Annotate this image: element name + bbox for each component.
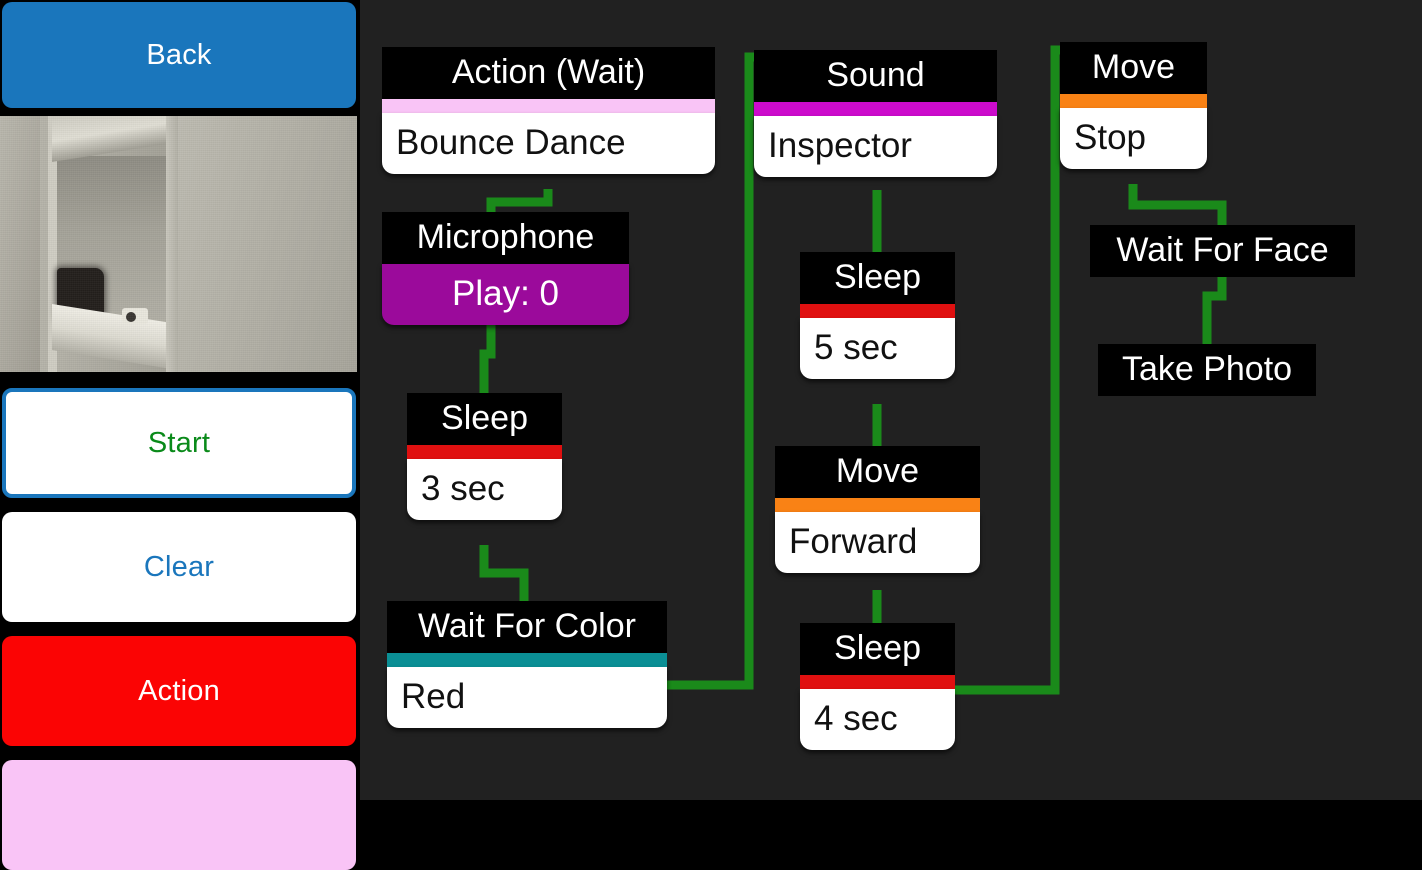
- block-microphone[interactable]: Microphone Play: 0: [382, 212, 629, 325]
- clear-button[interactable]: Clear: [2, 512, 356, 622]
- block-sleep-3-accent: [407, 445, 562, 459]
- wire-action-to-microphone: [491, 189, 548, 212]
- block-microphone-value[interactable]: Play: 0: [382, 264, 629, 325]
- block-sleep-4-accent: [800, 675, 955, 689]
- block-sleep-3-value[interactable]: 3 sec: [407, 459, 562, 520]
- block-sleep-5[interactable]: Sleep 5 sec: [800, 252, 955, 379]
- block-sleep-5-accent: [800, 304, 955, 318]
- back-button-label: Back: [146, 39, 211, 72]
- block-move-forward-value[interactable]: Forward: [775, 512, 980, 573]
- block-sound[interactable]: Sound Inspector: [754, 50, 997, 177]
- block-move-forward-title: Move: [775, 446, 980, 498]
- block-move-stop-value[interactable]: Stop: [1060, 108, 1207, 169]
- wire-sleep3-to-waitcolor: [484, 545, 524, 601]
- block-move-stop-accent: [1060, 94, 1207, 108]
- block-action-wait[interactable]: Action (Wait) Bounce Dance: [382, 47, 715, 174]
- block-move-forward-accent: [775, 498, 980, 512]
- wire-microphone-to-sleep3: [484, 318, 491, 393]
- block-move-stop[interactable]: Move Stop: [1060, 42, 1207, 169]
- clear-button-label: Clear: [144, 551, 214, 584]
- camera-noise-overlay: [0, 116, 357, 372]
- block-sound-title: Sound: [754, 50, 997, 102]
- block-sleep-4-value[interactable]: 4 sec: [800, 689, 955, 750]
- block-wait-for-color-title: Wait For Color: [387, 601, 667, 653]
- block-microphone-title: Microphone: [382, 212, 629, 264]
- block-sleep-4-title: Sleep: [800, 623, 955, 675]
- action-button-label: Action: [138, 675, 220, 708]
- block-take-photo[interactable]: Take Photo: [1098, 344, 1316, 396]
- block-sleep-3-title: Sleep: [407, 393, 562, 445]
- block-sound-value[interactable]: Inspector: [754, 116, 997, 177]
- block-sleep-5-value[interactable]: 5 sec: [800, 318, 955, 379]
- wire-movestop-to-waitface: [1133, 184, 1222, 225]
- block-action-wait-value[interactable]: Bounce Dance: [382, 113, 715, 174]
- block-wait-for-face[interactable]: Wait For Face: [1090, 225, 1355, 277]
- start-button[interactable]: Start: [2, 388, 356, 498]
- program-canvas[interactable]: Action (Wait) Bounce Dance Microphone Pl…: [360, 0, 1422, 800]
- block-action-wait-title: Action (Wait): [382, 47, 715, 99]
- block-wait-for-face-title: Wait For Face: [1090, 225, 1355, 277]
- start-button-label: Start: [148, 427, 210, 460]
- block-wait-for-color-accent: [387, 653, 667, 667]
- wire-waitface-to-takephoto: [1207, 272, 1222, 344]
- block-action-wait-accent: [382, 99, 715, 113]
- block-sleep-4[interactable]: Sleep 4 sec: [800, 623, 955, 750]
- block-wait-for-color[interactable]: Wait For Color Red: [387, 601, 667, 728]
- back-button[interactable]: Back: [2, 2, 356, 108]
- block-take-photo-title: Take Photo: [1098, 344, 1316, 396]
- action-button[interactable]: Action: [2, 636, 356, 746]
- control-sidebar: Back Start Clear Action: [0, 0, 360, 800]
- block-move-stop-title: Move: [1060, 42, 1207, 94]
- block-move-forward[interactable]: Move Forward: [775, 446, 980, 573]
- block-sound-accent: [754, 102, 997, 116]
- block-wait-for-color-value[interactable]: Red: [387, 667, 667, 728]
- app-root: Back Start Clear Action: [0, 0, 1422, 800]
- action-wait-palette-button[interactable]: [2, 760, 356, 870]
- block-sleep-3[interactable]: Sleep 3 sec: [407, 393, 562, 520]
- block-sleep-5-title: Sleep: [800, 252, 955, 304]
- camera-preview: [0, 116, 357, 372]
